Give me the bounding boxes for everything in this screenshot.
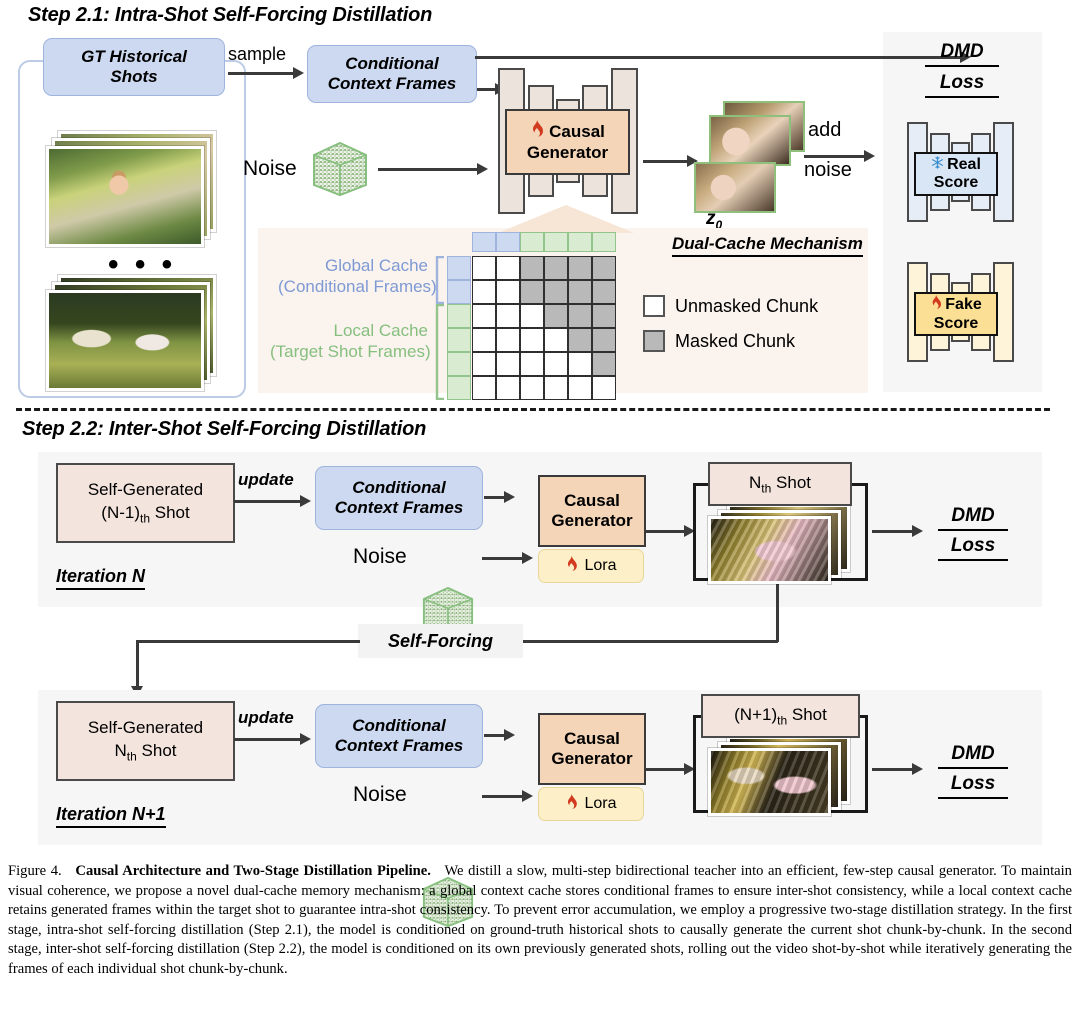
mask-cell-r3-c4 xyxy=(544,304,568,328)
noise-to-gen-line-n1 xyxy=(482,795,524,798)
dmd-line2: Loss xyxy=(925,71,999,98)
mask-cell-r4-c1 xyxy=(472,328,496,352)
global-cache-label-1: Global Cache xyxy=(278,255,428,276)
causal-gen-n-line1: Causal xyxy=(564,491,620,511)
mask-cell-r6-c3 xyxy=(520,376,544,400)
mask-cell-r4-c6 xyxy=(592,328,616,352)
figure-title: Causal Architecture and Two-Stage Distil… xyxy=(75,863,431,879)
noise-to-gen-arrow-step1 xyxy=(477,163,488,175)
global-cache-bracket xyxy=(432,256,446,304)
global-cache-label: Global Cache (Conditional Frames) xyxy=(278,255,428,298)
mask-cell-r2-c1 xyxy=(472,280,496,304)
global-cache-label-2: (Conditional Frames) xyxy=(278,276,428,297)
col-hdr-local-1 xyxy=(520,232,544,252)
mask-cell-r3-c6 xyxy=(592,304,616,328)
cond-n-line1: Conditional xyxy=(352,478,445,498)
dmd-loss-title-step1: DMD Loss xyxy=(925,40,999,98)
legend-label-masked: Masked Chunk xyxy=(675,331,795,352)
update-label-n1: update xyxy=(238,708,294,728)
cond-line1: Conditional xyxy=(345,54,438,74)
mask-cell-r1-c2 xyxy=(496,256,520,280)
lora-box-n[interactable]: Lora xyxy=(538,549,644,583)
figure-diagram: Step 2.1: Intra-Shot Self-Forcing Distil… xyxy=(0,0,1080,860)
mask-cell-r1-c1 xyxy=(472,256,496,280)
noise-to-gen-line-n xyxy=(482,557,524,560)
noise-label-step1: Noise xyxy=(243,157,297,181)
cond-line2: Context Frames xyxy=(328,74,456,94)
gen-to-shot-line-n xyxy=(644,530,686,533)
gen-to-z0-line xyxy=(643,160,689,163)
noise-label-n1: Noise xyxy=(353,783,407,807)
local-cache-label-1: Local Cache xyxy=(270,320,428,341)
gt-historical-shots-box[interactable]: GT Historical Shots xyxy=(43,38,225,96)
mask-cell-r5-c1 xyxy=(472,352,496,376)
shot-to-dmd-arrow-n1 xyxy=(912,763,923,775)
dmd-n1-line2: Loss xyxy=(938,772,1008,799)
cond-n1-line1: Conditional xyxy=(352,716,445,736)
flame-icon xyxy=(565,556,578,577)
update-arrow-line-n xyxy=(234,500,302,503)
row-hdr-local-4 xyxy=(447,376,471,400)
cond-to-gen-arrow-n xyxy=(504,491,515,503)
fake-score-box[interactable]: Fake Score xyxy=(914,292,998,336)
mask-cell-r1-c5 xyxy=(568,256,592,280)
nth-shot-label: Nth Shot xyxy=(749,472,811,497)
mask-cell-r2-c6 xyxy=(592,280,616,304)
noise-to-gen-arrow-n1 xyxy=(522,790,533,802)
mask-cell-r5-c6 xyxy=(592,352,616,376)
real-score-line2: Score xyxy=(934,174,978,192)
local-cache-bracket xyxy=(432,304,446,400)
self-gen-n1-line1: Self-Generated xyxy=(88,717,203,740)
col-hdr-global-1 xyxy=(472,232,496,252)
cond-n1-line2: Context Frames xyxy=(335,736,463,756)
self-forcing-down-from-shot xyxy=(776,575,779,642)
nth-shot-label-box[interactable]: Nth Shot xyxy=(708,462,852,506)
row-hdr-local-3 xyxy=(447,352,471,376)
gen-to-shot-line-n1 xyxy=(644,768,686,771)
nth-shot-frame-front xyxy=(708,516,831,584)
fake-score-line2: Score xyxy=(934,315,978,333)
mask-cell-r4-c3 xyxy=(520,328,544,352)
mask-cell-r3-c3 xyxy=(520,304,544,328)
cond-to-gen-line-n1 xyxy=(484,734,506,737)
figure-caption-text: We distill a slow, multi-step bidirectio… xyxy=(8,863,1072,977)
mask-cell-r2-c4 xyxy=(544,280,568,304)
mask-cell-r5-c5 xyxy=(568,352,592,376)
mask-cell-r3-c2 xyxy=(496,304,520,328)
self-forcing-label-box: Self-Forcing xyxy=(358,624,523,658)
step-2-1-title: Step 2.1: Intra-Shot Self-Forcing Distil… xyxy=(28,4,432,27)
cond-to-dmd-line xyxy=(475,56,962,59)
causal-gen-n1-line1: Causal xyxy=(564,729,620,749)
noise-to-gen-line-step1 xyxy=(378,168,478,171)
n1th-shot-label-box[interactable]: (N+1)th Shot xyxy=(701,694,860,738)
gt-box-line2: Shots xyxy=(110,67,157,87)
iteration-n-label: Iteration N xyxy=(56,566,145,590)
figure-caption: Figure 4. Causal Architecture and Two-St… xyxy=(8,862,1072,980)
shot-to-dmd-line-n xyxy=(872,530,914,533)
self-forcing-label: Self-Forcing xyxy=(388,631,493,652)
mask-cell-r2-c3 xyxy=(520,280,544,304)
mask-cell-r6-c5 xyxy=(568,376,592,400)
noise-to-gen-arrow-n xyxy=(522,552,533,564)
update-arrow-head-n xyxy=(300,495,311,507)
cond-to-gen-arrow-n1 xyxy=(504,729,515,741)
self-generated-shot-box-n1[interactable]: Self-Generated Nth Shot xyxy=(56,701,235,781)
causal-generator-line1: Causal xyxy=(549,122,605,142)
self-gen-n-line1: Self-Generated xyxy=(88,479,203,502)
row-hdr-global-1 xyxy=(447,256,471,280)
section-divider xyxy=(16,408,1050,411)
col-hdr-local-3 xyxy=(568,232,592,252)
legend-label-unmasked: Unmasked Chunk xyxy=(675,296,818,317)
self-gen-n-line2: (N-1)th Shot xyxy=(101,502,189,527)
dual-cache-title: Dual-Cache Mechanism xyxy=(672,234,863,257)
mask-cell-r5-c2 xyxy=(496,352,520,376)
iteration-n1-label: Iteration N+1 xyxy=(56,804,166,828)
n1th-shot-frame-front xyxy=(708,748,831,816)
legend-swatch-masked xyxy=(643,330,665,352)
mask-cell-r6-c1 xyxy=(472,376,496,400)
flame-icon xyxy=(530,120,544,143)
lora-label-n: Lora xyxy=(584,557,616,575)
mask-cell-r3-c1 xyxy=(472,304,496,328)
conditional-context-frames-box-n[interactable]: Conditional Context Frames xyxy=(315,466,483,530)
mask-cell-r4-c5 xyxy=(568,328,592,352)
update-arrow-line-n1 xyxy=(234,738,302,741)
conditional-context-frames-box-step1[interactable]: Conditional Context Frames xyxy=(307,45,477,103)
cond-n-line2: Context Frames xyxy=(335,498,463,518)
dmd-loss-n1: DMD Loss xyxy=(938,742,1008,799)
cache-cone xyxy=(498,205,638,233)
sample-arrow-line xyxy=(228,72,294,75)
step-2-2-title: Step 2.2: Inter-Shot Self-Forcing Distil… xyxy=(22,418,426,441)
z0-frame-bottom xyxy=(694,162,776,213)
mask-cell-r1-c3 xyxy=(520,256,544,280)
noise-label-n: Noise xyxy=(353,545,407,569)
mask-cell-r6-c2 xyxy=(496,376,520,400)
col-hdr-local-2 xyxy=(544,232,568,252)
self-forcing-line-right xyxy=(683,640,778,643)
causal-gen-n-line2: Generator xyxy=(551,511,632,531)
snowflake-icon xyxy=(931,156,944,174)
local-cache-label-2: (Target Shot Frames) xyxy=(270,341,428,362)
gt-frame-front-1 xyxy=(46,146,204,247)
attention-mask-grid xyxy=(472,256,616,400)
causal-generator-box-n1[interactable]: Causal Generator xyxy=(538,713,646,785)
mask-cell-r6-c6 xyxy=(592,376,616,400)
cond-to-gen-line-n xyxy=(484,496,506,499)
self-gen-n1-line2: Nth Shot xyxy=(115,740,177,765)
conditional-context-frames-box-n1[interactable]: Conditional Context Frames xyxy=(315,704,483,768)
mask-cell-r4-c2 xyxy=(496,328,520,352)
add-noise-line xyxy=(804,155,866,158)
add-noise-arrow xyxy=(864,150,875,162)
fake-score-line1: Fake xyxy=(945,296,981,314)
self-forcing-line-left xyxy=(136,640,360,643)
gt-frame-front-2 xyxy=(46,290,204,391)
dmd-line1: DMD xyxy=(925,40,999,67)
flame-icon xyxy=(565,794,578,815)
self-forcing-line-mid xyxy=(523,640,685,643)
real-score-line1: Real xyxy=(947,156,981,174)
lora-box-n1[interactable]: Lora xyxy=(538,787,644,821)
mask-cell-r4-c4 xyxy=(544,328,568,352)
update-label-n: update xyxy=(238,470,294,490)
figure-number: Figure 4. xyxy=(8,863,62,879)
mask-cell-r5-c3 xyxy=(520,352,544,376)
dmd-n-line2: Loss xyxy=(938,534,1008,561)
cond-to-gen-line xyxy=(477,88,497,91)
row-hdr-global-2 xyxy=(447,280,471,304)
lora-label-n1: Lora xyxy=(584,795,616,813)
sample-arrow-head xyxy=(293,67,304,79)
causal-generator-box-n[interactable]: Causal Generator xyxy=(538,475,646,547)
flame-icon xyxy=(930,295,942,315)
causal-generator-box-step1[interactable]: Causal Generator xyxy=(505,109,630,175)
cache-row-header xyxy=(447,256,471,400)
self-forcing-down-to-box xyxy=(136,640,139,688)
update-arrow-head-n1 xyxy=(300,733,311,745)
mask-cell-r2-c2 xyxy=(496,280,520,304)
mask-cell-r5-c4 xyxy=(544,352,568,376)
self-generated-shot-box-n[interactable]: Self-Generated (N-1)th Shot xyxy=(56,463,235,543)
gt-box-line1: GT Historical xyxy=(81,47,187,67)
n1th-shot-label: (N+1)th Shot xyxy=(734,704,827,729)
row-hdr-local-2 xyxy=(447,328,471,352)
mask-cell-r1-c4 xyxy=(544,256,568,280)
mask-cell-r6-c4 xyxy=(544,376,568,400)
dmd-n1-line1: DMD xyxy=(938,742,1008,769)
dmd-n-line1: DMD xyxy=(938,504,1008,531)
mask-cell-r1-c6 xyxy=(592,256,616,280)
col-hdr-global-2 xyxy=(496,232,520,252)
mask-cell-r2-c5 xyxy=(568,280,592,304)
shot-to-dmd-arrow-n xyxy=(912,525,923,537)
causal-generator-line2: Generator xyxy=(527,143,608,163)
add-noise-label-line1: add xyxy=(808,119,841,142)
legend-swatch-unmasked xyxy=(643,295,665,317)
noise-cube-step1 xyxy=(312,141,368,197)
z0-frame-mid xyxy=(709,115,791,166)
add-noise-label-line2: noise xyxy=(804,159,852,182)
col-hdr-local-4 xyxy=(592,232,616,252)
dmd-loss-n: DMD Loss xyxy=(938,504,1008,561)
row-hdr-local-1 xyxy=(447,304,471,328)
sample-label: sample xyxy=(228,44,286,65)
mask-cell-r3-c5 xyxy=(568,304,592,328)
shot-to-dmd-line-n1 xyxy=(872,768,914,771)
real-score-box[interactable]: Real Score xyxy=(914,152,998,196)
local-cache-label: Local Cache (Target Shot Frames) xyxy=(270,320,428,363)
causal-gen-n1-line2: Generator xyxy=(551,749,632,769)
cache-col-header xyxy=(472,232,616,252)
